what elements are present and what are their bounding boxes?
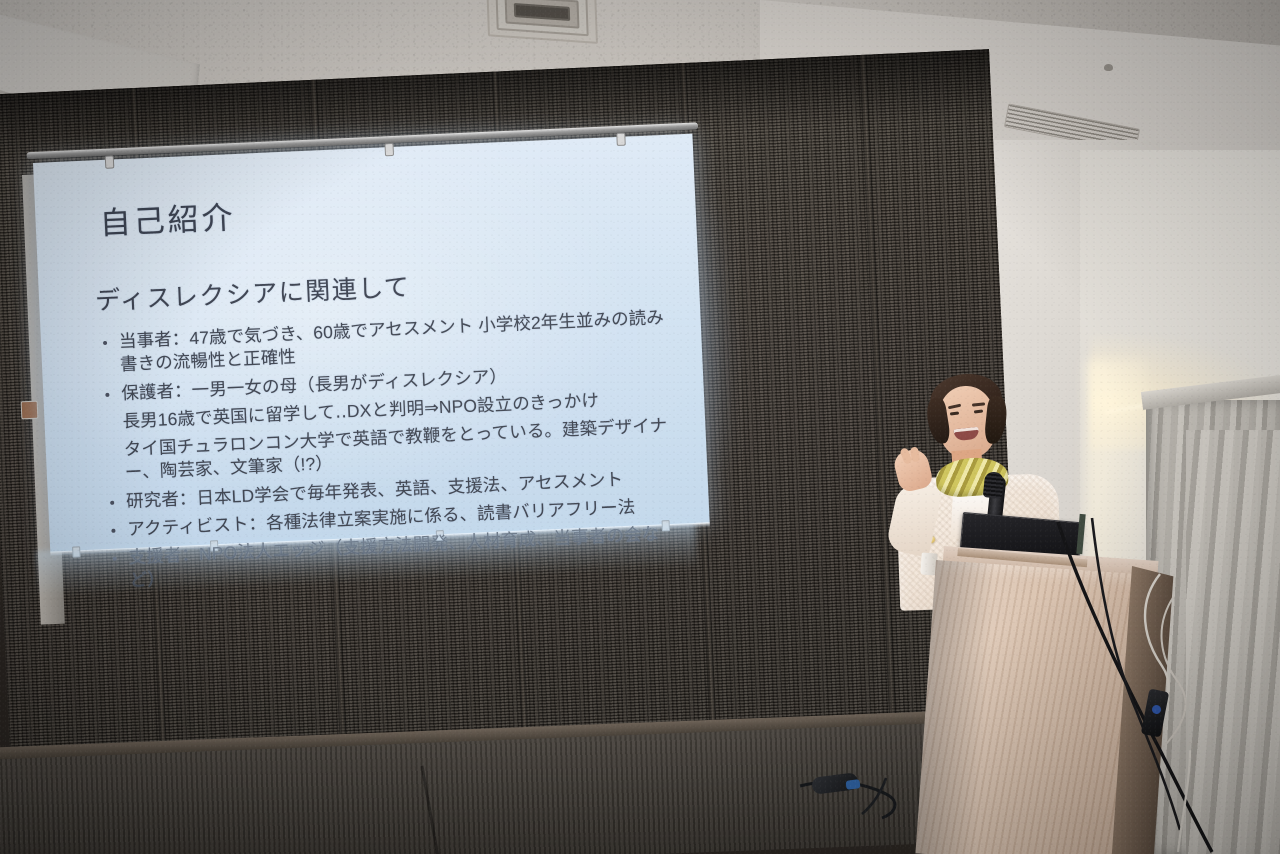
- projection-screen: 自己紹介 ディスレクシアに関連して 当事者：47歳で気づき、60歳でアセスメント…: [33, 134, 710, 553]
- speaker-hair-right: [984, 395, 1009, 445]
- av-cable-floor: [790, 760, 970, 840]
- presentation-room-photo: 自己紹介 ディスレクシアに関連して 当事者：47歳で気づき、60歳でアセスメント…: [0, 0, 1280, 854]
- slide-subtitle: ディスレクシアに関連して: [94, 256, 665, 317]
- slide-title: 自己紹介: [99, 173, 662, 243]
- ceiling-sensor-icon: [1104, 64, 1113, 71]
- av-cable-upper: [1040, 500, 1280, 854]
- speaker-finger: [910, 446, 920, 462]
- slide-content: 自己紹介 ディスレクシアに関連して 当事者：47歳で気づき、60歳でアセスメント…: [33, 134, 710, 553]
- cable-connector-blue-floor: [846, 779, 861, 790]
- microphone-head-icon: [983, 471, 1005, 499]
